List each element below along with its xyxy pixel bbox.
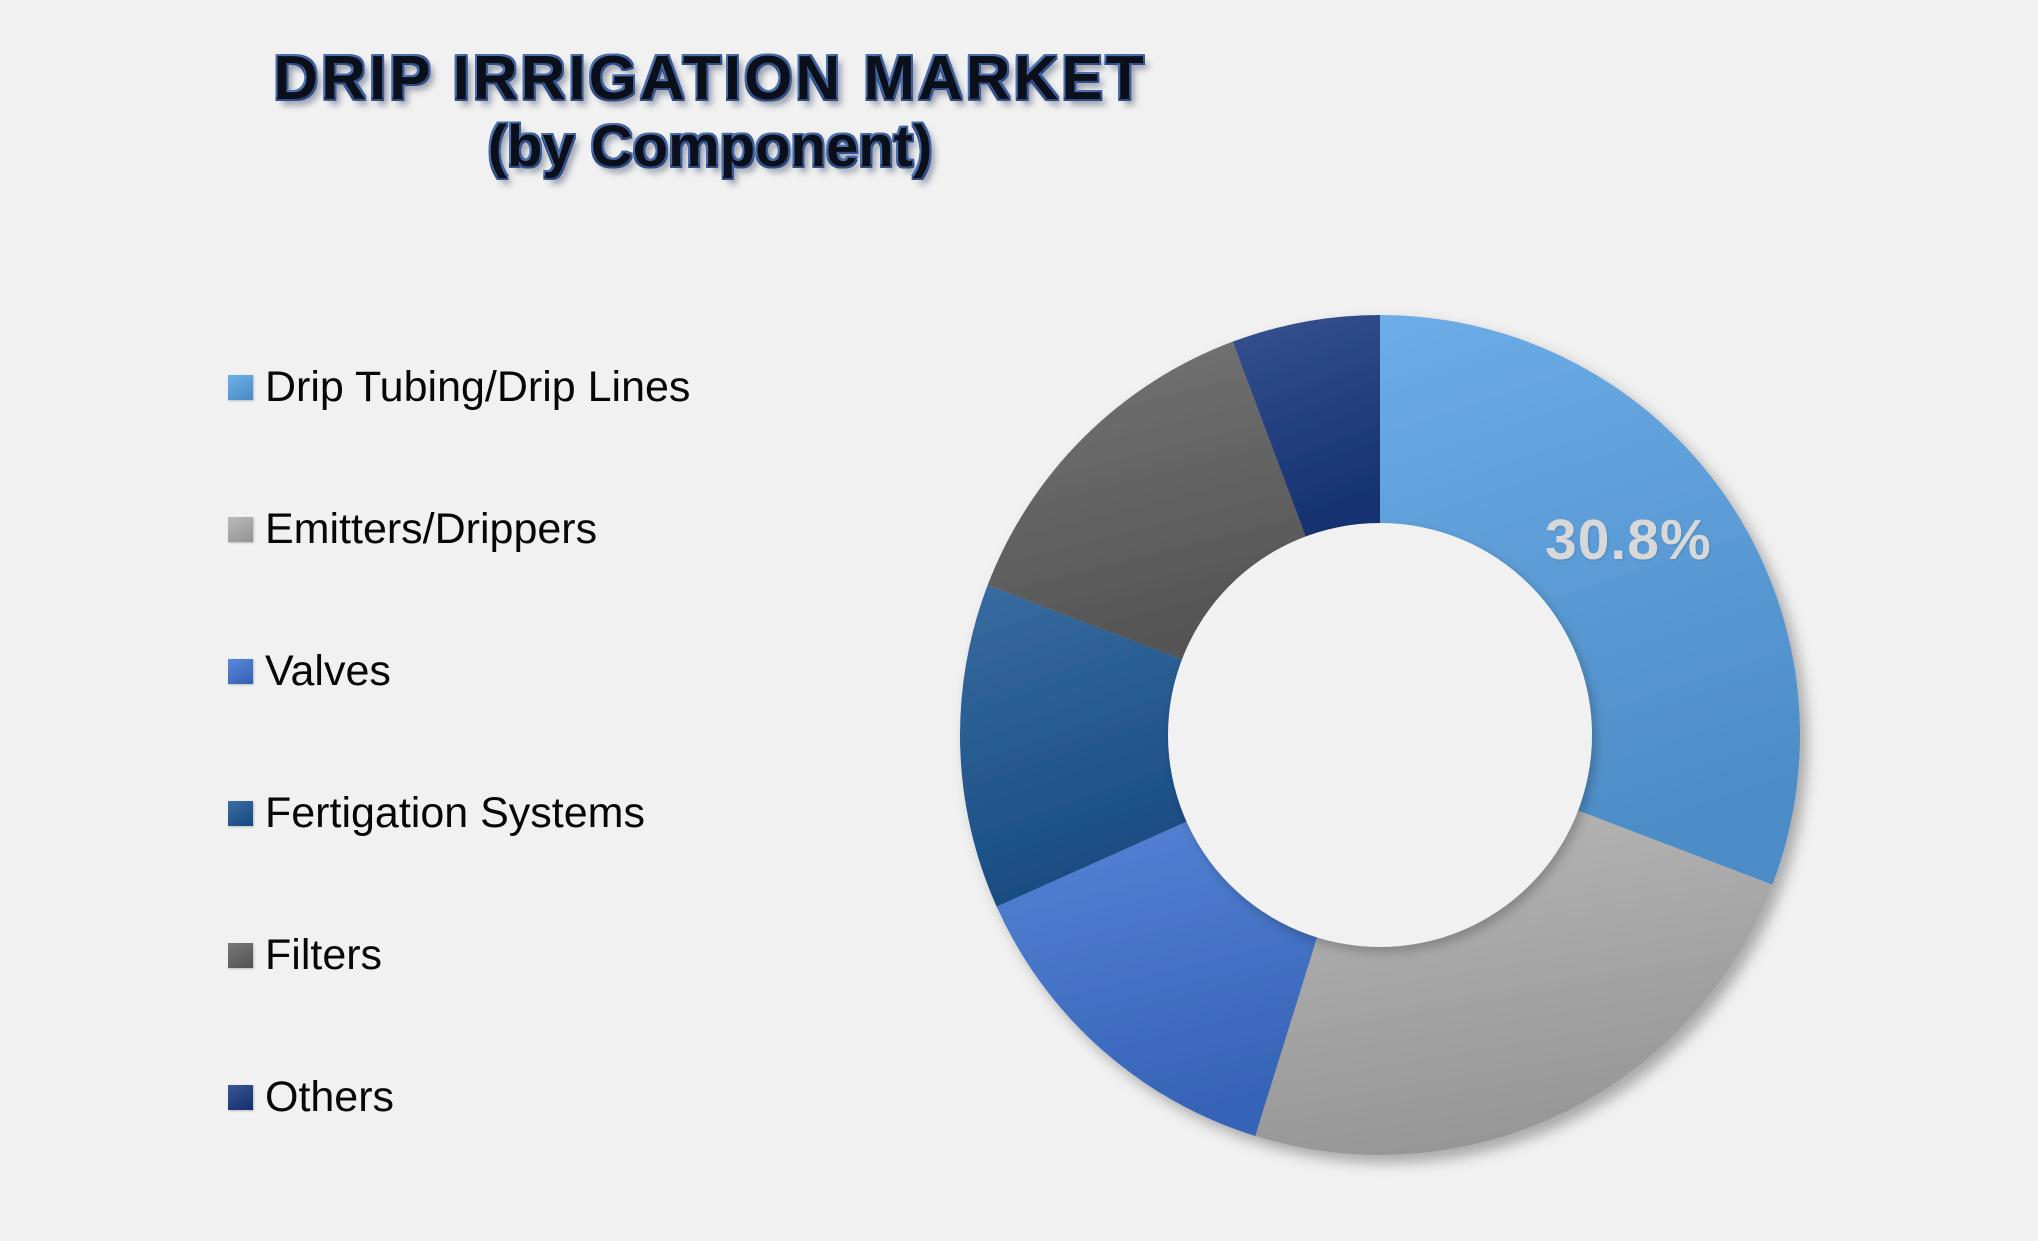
legend-item-emitters[interactable]: Emitters/Drippers — [228, 458, 868, 600]
legend-swatch-icon — [228, 1085, 253, 1110]
legend-swatch-icon — [228, 943, 253, 968]
legend-item-valves[interactable]: Valves — [228, 600, 868, 742]
legend-swatch-icon — [228, 375, 253, 400]
donut-center-hole — [1168, 523, 1592, 947]
legend-swatch-icon — [228, 659, 253, 684]
legend-item-label: Filters — [265, 934, 382, 977]
slice-value-label: 30.8% — [1545, 507, 1712, 573]
legend-swatch-icon — [228, 517, 253, 542]
chart-title-block: DRIP IRRIGATION MARKET (by Component) — [0, 46, 1420, 177]
chart-legend: Drip Tubing/Drip Lines Emitters/Drippers… — [228, 316, 868, 1168]
donut-chart — [930, 285, 1830, 1185]
legend-item-label: Emitters/Drippers — [265, 508, 597, 551]
legend-item-filters[interactable]: Filters — [228, 884, 868, 1026]
page-subtitle: (by Component) — [0, 116, 1420, 177]
legend-item-fertigation-systems[interactable]: Fertigation Systems — [228, 742, 868, 884]
legend-item-label: Others — [265, 1076, 394, 1119]
donut-chart-svg — [930, 285, 1830, 1185]
legend-item-label: Valves — [265, 650, 391, 693]
legend-item-label: Drip Tubing/Drip Lines — [265, 366, 690, 409]
legend-item-label: Fertigation Systems — [265, 792, 645, 835]
page-title: DRIP IRRIGATION MARKET — [0, 46, 1420, 112]
legend-item-drip-tubing[interactable]: Drip Tubing/Drip Lines — [228, 316, 868, 458]
legend-swatch-icon — [228, 801, 253, 826]
legend-item-others[interactable]: Others — [228, 1026, 868, 1168]
